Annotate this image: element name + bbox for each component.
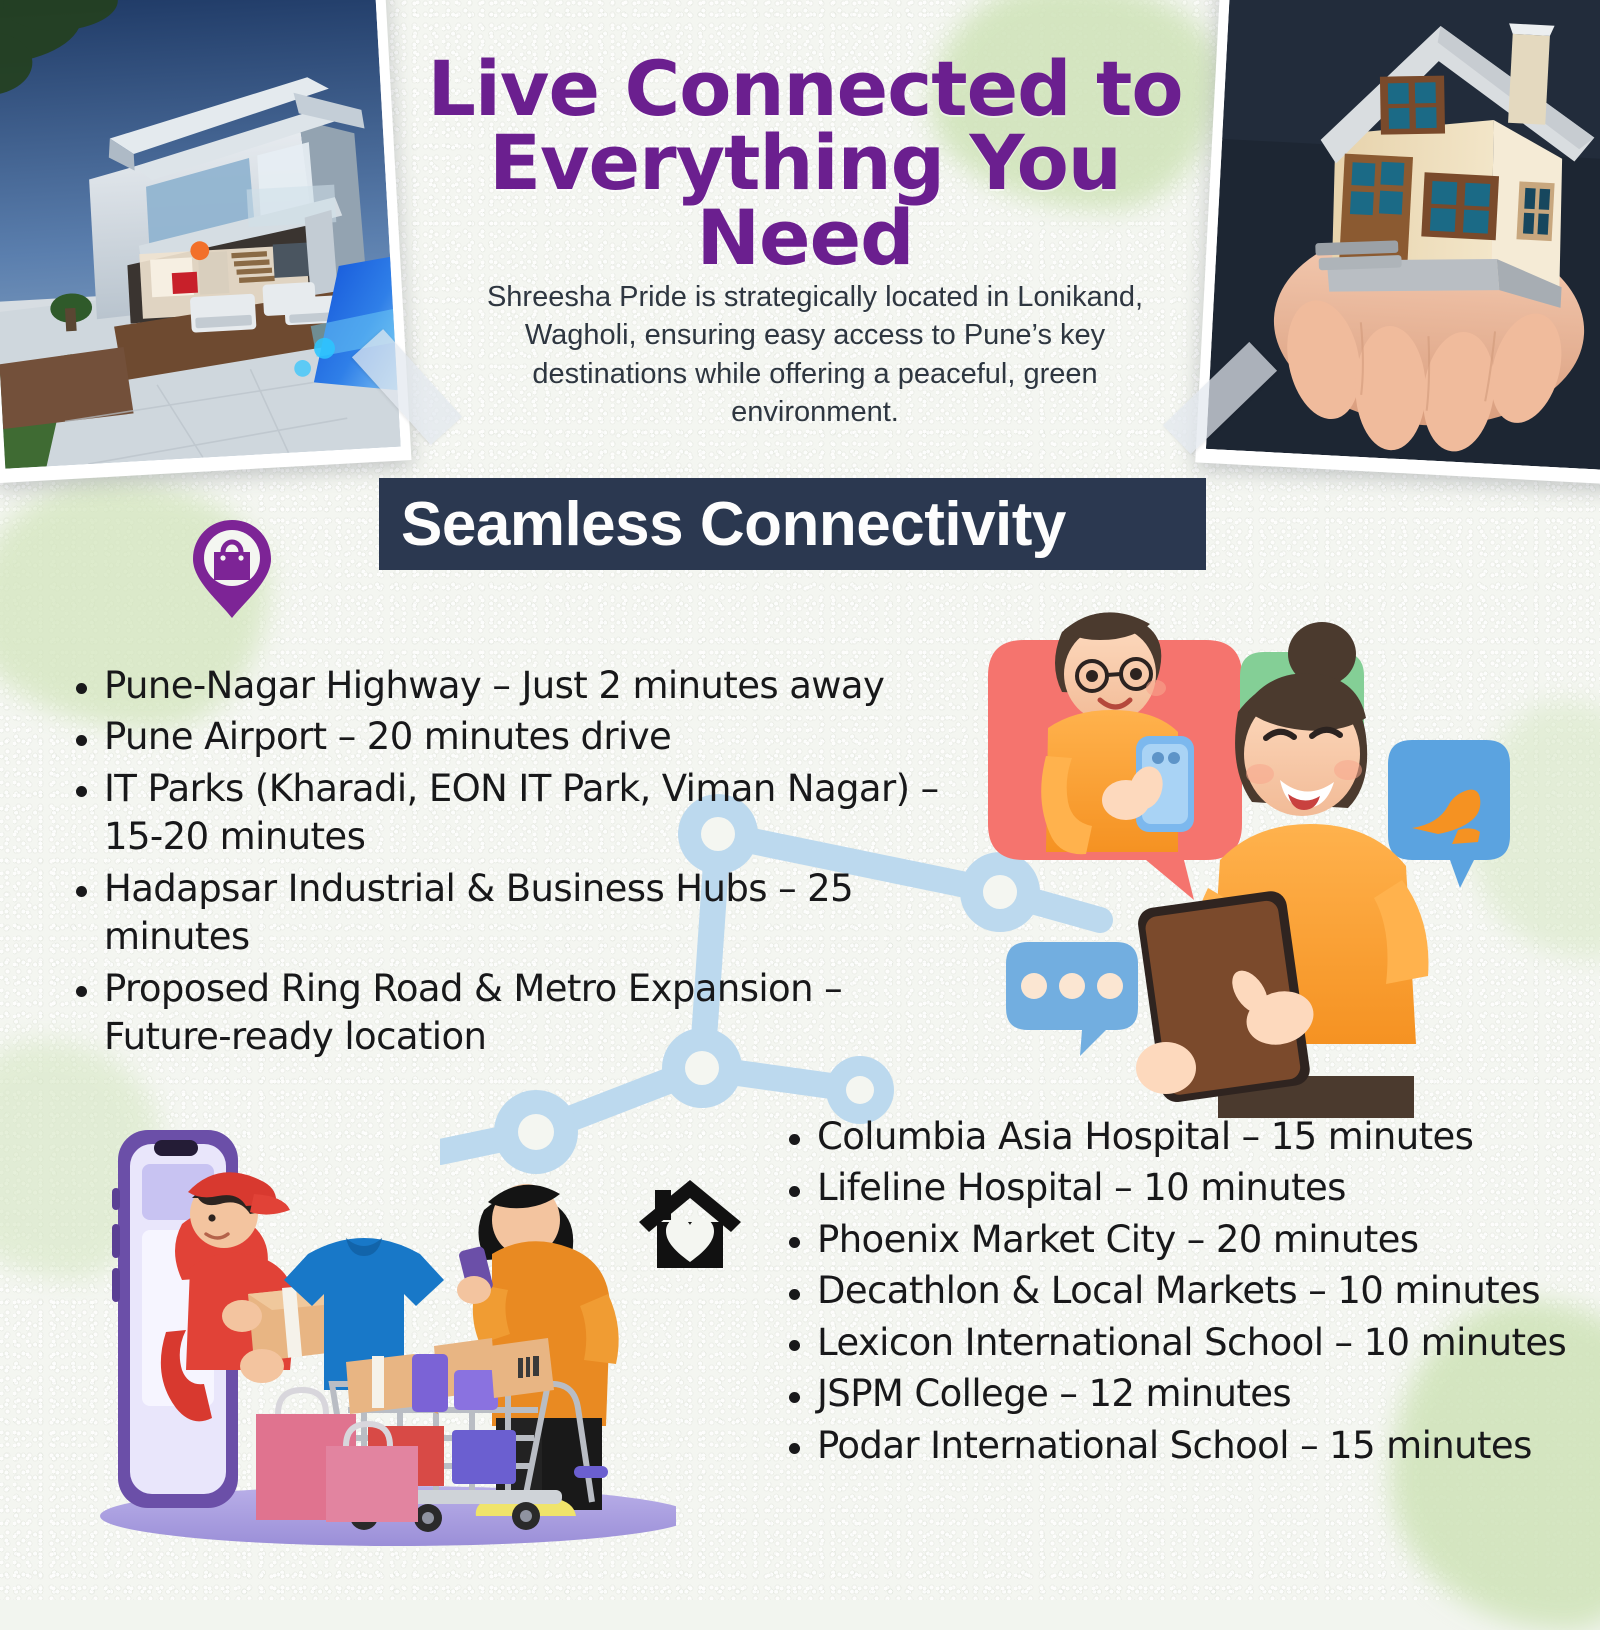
list-item: Proposed Ring Road & Metro Expansion – F… xyxy=(62,965,942,1062)
amenities-connectivity-list: Columbia Asia Hospital – 15 minutesLifel… xyxy=(775,1113,1575,1473)
headline-line-2: Everything You Need xyxy=(420,126,1190,275)
section-banner: Seamless Connectivity xyxy=(379,478,1206,570)
list-item: Decathlon & Local Markets – 10 minutes xyxy=(775,1267,1575,1315)
hand-holding-model-house-photo xyxy=(1195,0,1600,485)
model-house-image xyxy=(1206,0,1600,470)
list-item: Podar International School – 15 minutes xyxy=(775,1422,1575,1470)
list-item: IT Parks (Kharadi, EON IT Park, Viman Na… xyxy=(62,765,942,862)
list-item: Columbia Asia Hospital – 15 minutes xyxy=(775,1113,1575,1161)
online-shopping-delivery-illustration xyxy=(96,1118,676,1548)
villa-image xyxy=(0,0,401,469)
list-item: Pune-Nagar Highway – Just 2 minutes away xyxy=(62,662,942,710)
people-chatting-devices-illustration xyxy=(950,588,1510,1118)
subtitle-text: Shreesha Pride is strategically located … xyxy=(455,278,1175,431)
banner-title: Seamless Connectivity xyxy=(379,489,1066,560)
list-item: Pune Airport – 20 minutes drive xyxy=(62,713,942,761)
list-item: Lexicon International School – 10 minute… xyxy=(775,1319,1575,1367)
page-title: Live Connected to Everything You Need xyxy=(420,52,1190,275)
list-item: JSPM College – 12 minutes xyxy=(775,1370,1575,1418)
modern-villa-pool-photo xyxy=(0,0,411,483)
list-item: Lifeline Hospital – 10 minutes xyxy=(775,1164,1575,1212)
transport-connectivity-list: Pune-Nagar Highway – Just 2 minutes away… xyxy=(62,662,942,1065)
list-item: Hadapsar Industrial & Business Hubs – 25… xyxy=(62,865,942,962)
list-item: Phoenix Market City – 20 minutes xyxy=(775,1216,1575,1264)
shopping-bag-map-pin-icon xyxy=(190,518,274,620)
